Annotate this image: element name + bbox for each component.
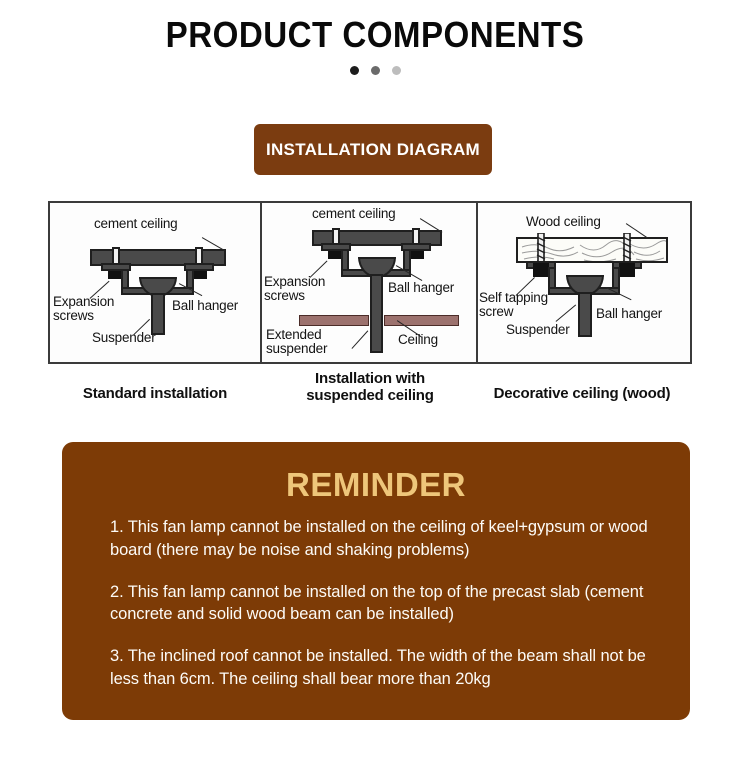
label-ball-hanger: Ball hanger: [388, 281, 454, 295]
suspender-rod: [578, 292, 592, 337]
label-cement-ceiling: cement ceiling: [312, 207, 396, 221]
label-self-tapping-screw: Self tapping screw: [479, 291, 548, 319]
caption-suspended-ceiling: Installation with suspended ceiling: [262, 371, 478, 405]
label-ball-hanger: Ball hanger: [596, 307, 662, 321]
reminder-panel: REMINDER 1. This fan lamp cannot be inst…: [62, 442, 690, 720]
diagram-panel-wood: Wood ceiling Self tapping screw Ball han…: [478, 203, 689, 362]
reminder-list: 1. This fan lamp cannot be installed on …: [110, 516, 664, 710]
reminder-item-2: 2. This fan lamp cannot be installed on …: [110, 581, 664, 627]
extended-suspender-rod: [370, 274, 383, 353]
suspender-rod: [151, 293, 165, 335]
reminder-item-3: 3. The inclined roof cannot be installed…: [110, 645, 664, 691]
diagram-panel-standard: cement ceiling Expansion screws Ball han…: [50, 203, 262, 362]
screw-anchor-right: [619, 263, 635, 277]
diagram-panel-suspended: cement ceiling Expansion screws Ball han…: [262, 203, 478, 362]
leader-line-suspender: [556, 304, 577, 322]
screw-anchor-left: [533, 263, 549, 277]
label-suspender: Suspender: [92, 331, 156, 345]
carousel-dots: [0, 66, 750, 75]
carousel-dot-3[interactable]: [392, 66, 401, 75]
false-ceiling-bar-right: [384, 315, 459, 326]
carousel-dot-2[interactable]: [371, 66, 380, 75]
label-ball-hanger: Ball hanger: [172, 299, 238, 313]
caption-decorative-ceiling: Decorative ceiling (wood): [470, 386, 694, 403]
label-cement-ceiling: cement ceiling: [94, 217, 178, 231]
caption-standard-installation: Standard installation: [48, 386, 262, 403]
label-expansion-screws: Expansion screws: [53, 295, 114, 323]
leader-line-extended-suspender: [351, 330, 368, 349]
false-ceiling-bar-left: [299, 315, 369, 326]
label-expansion-screws: Expansion screws: [264, 275, 325, 303]
page-title: PRODUCT COMPONENTS: [30, 14, 720, 56]
installation-diagram-container: cement ceiling Expansion screws Ball han…: [48, 201, 692, 364]
carousel-dot-1[interactable]: [350, 66, 359, 75]
installation-diagram-button[interactable]: INSTALLATION DIAGRAM: [254, 124, 492, 175]
installation-diagram-button-label: INSTALLATION DIAGRAM: [266, 140, 480, 160]
label-suspender: Suspender: [506, 323, 570, 337]
reminder-title: REMINDER: [62, 466, 690, 504]
reminder-item-1: 1. This fan lamp cannot be installed on …: [110, 516, 664, 562]
label-false-ceiling: Ceiling: [398, 333, 438, 347]
label-extended-suspender: Extended suspender: [266, 328, 327, 356]
label-wood-ceiling: Wood ceiling: [526, 215, 601, 229]
